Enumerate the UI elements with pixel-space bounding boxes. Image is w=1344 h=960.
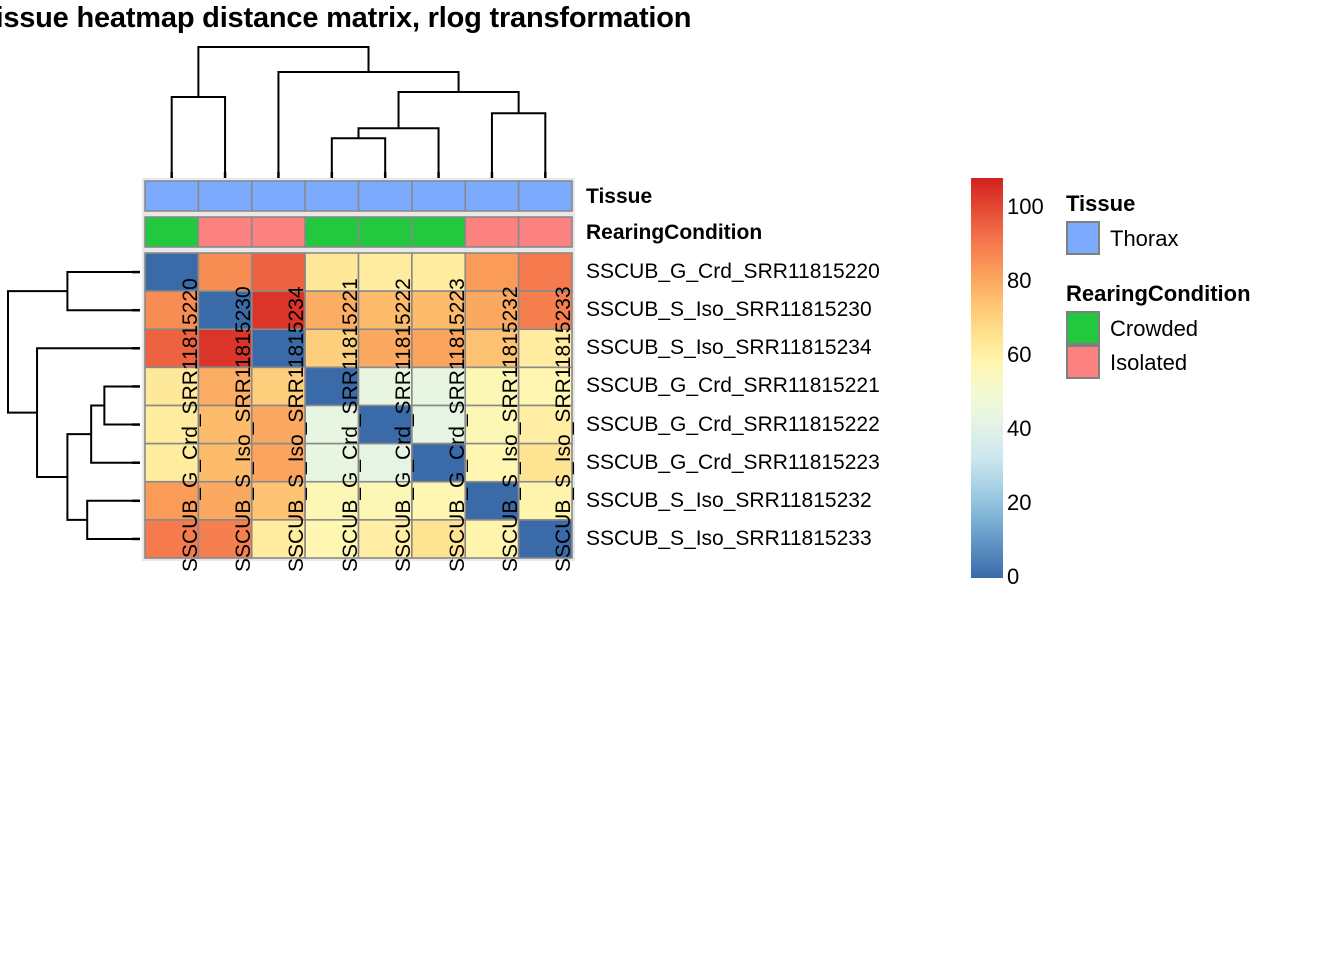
- heatmap-row-label: SSCUB_G_Crd_SRR11815221: [586, 375, 880, 396]
- column-dendrogram: [172, 47, 546, 172]
- legend-swatch: [1066, 221, 1100, 255]
- annotation-cell: [519, 181, 572, 211]
- legend-item-label: Thorax: [1110, 228, 1178, 250]
- legend-swatch: [1066, 311, 1100, 345]
- annotation-bars: [142, 178, 575, 250]
- legend-item-label: Crowded: [1110, 318, 1198, 340]
- colorbar-tick-label: 0: [1007, 566, 1081, 588]
- heatmap-column-label: SSCUB_S_Iso_SRR11815233: [553, 286, 574, 572]
- row-tick-marks: [132, 272, 140, 539]
- colorbar: [971, 178, 1003, 578]
- annotation-row-label: Tissue: [586, 186, 652, 207]
- annotation-cell: [198, 217, 251, 247]
- annotation-cell: [465, 217, 518, 247]
- heatmap-column-label: SSCUB_G_Crd_SRR11815221: [340, 278, 361, 572]
- colorbar-tick-label: 40: [1007, 418, 1081, 440]
- heatmap-row-label: SSCUB_S_Iso_SRR11815233: [586, 528, 872, 549]
- row-dendrogram: [8, 272, 140, 539]
- heatmap-row-label: SSCUB_S_Iso_SRR11815230: [586, 299, 872, 320]
- legend-title: RearingCondition: [1066, 283, 1251, 305]
- heatmap-column-label: SSCUB_S_Iso_SRR11815230: [233, 286, 254, 572]
- annotation-cell: [359, 217, 412, 247]
- legend-title: Tissue: [1066, 193, 1135, 215]
- heatmap-row-label: SSCUB_S_Iso_SRR11815234: [586, 337, 872, 358]
- legend-swatch: [1066, 345, 1100, 379]
- heatmap-column-label: SSCUB_S_Iso_SRR11815234: [286, 286, 307, 572]
- heatmap-column-label: SSCUB_S_Iso_SRR11815232: [500, 286, 521, 572]
- legend-item-label: Isolated: [1110, 352, 1187, 374]
- annotation-cell: [198, 181, 251, 211]
- heatmap-row-label: SSCUB_G_Crd_SRR11815222: [586, 414, 880, 435]
- heatmap-row-label: SSCUB_G_Crd_SRR11815220: [586, 261, 880, 282]
- heatmap-row-label: SSCUB_S_Iso_SRR11815232: [586, 490, 872, 511]
- annotation-row-label: RearingCondition: [586, 222, 762, 243]
- heatmap-column-label: SSCUB_G_Crd_SRR11815222: [393, 278, 414, 572]
- heatmap-figure: tissue heatmap distance matrix, rlog tra…: [0, 0, 1344, 960]
- annotation-cell: [305, 181, 358, 211]
- annotation-cell: [412, 181, 465, 211]
- colorbar-tick-label: 20: [1007, 492, 1081, 514]
- annotation-cell: [252, 217, 305, 247]
- annotation-cell: [519, 217, 572, 247]
- annotation-cell: [252, 181, 305, 211]
- annotation-cell: [359, 181, 412, 211]
- annotation-cell: [305, 217, 358, 247]
- annotation-cell: [145, 217, 198, 247]
- heatmap-column-label: SSCUB_G_Crd_SRR11815220: [180, 278, 201, 572]
- annotation-cell: [412, 217, 465, 247]
- annotation-cell: [145, 181, 198, 211]
- heatmap-column-label: SSCUB_G_Crd_SRR11815223: [447, 278, 468, 572]
- heatmap-row-label: SSCUB_G_Crd_SRR11815223: [586, 452, 880, 473]
- annotation-cell: [465, 181, 518, 211]
